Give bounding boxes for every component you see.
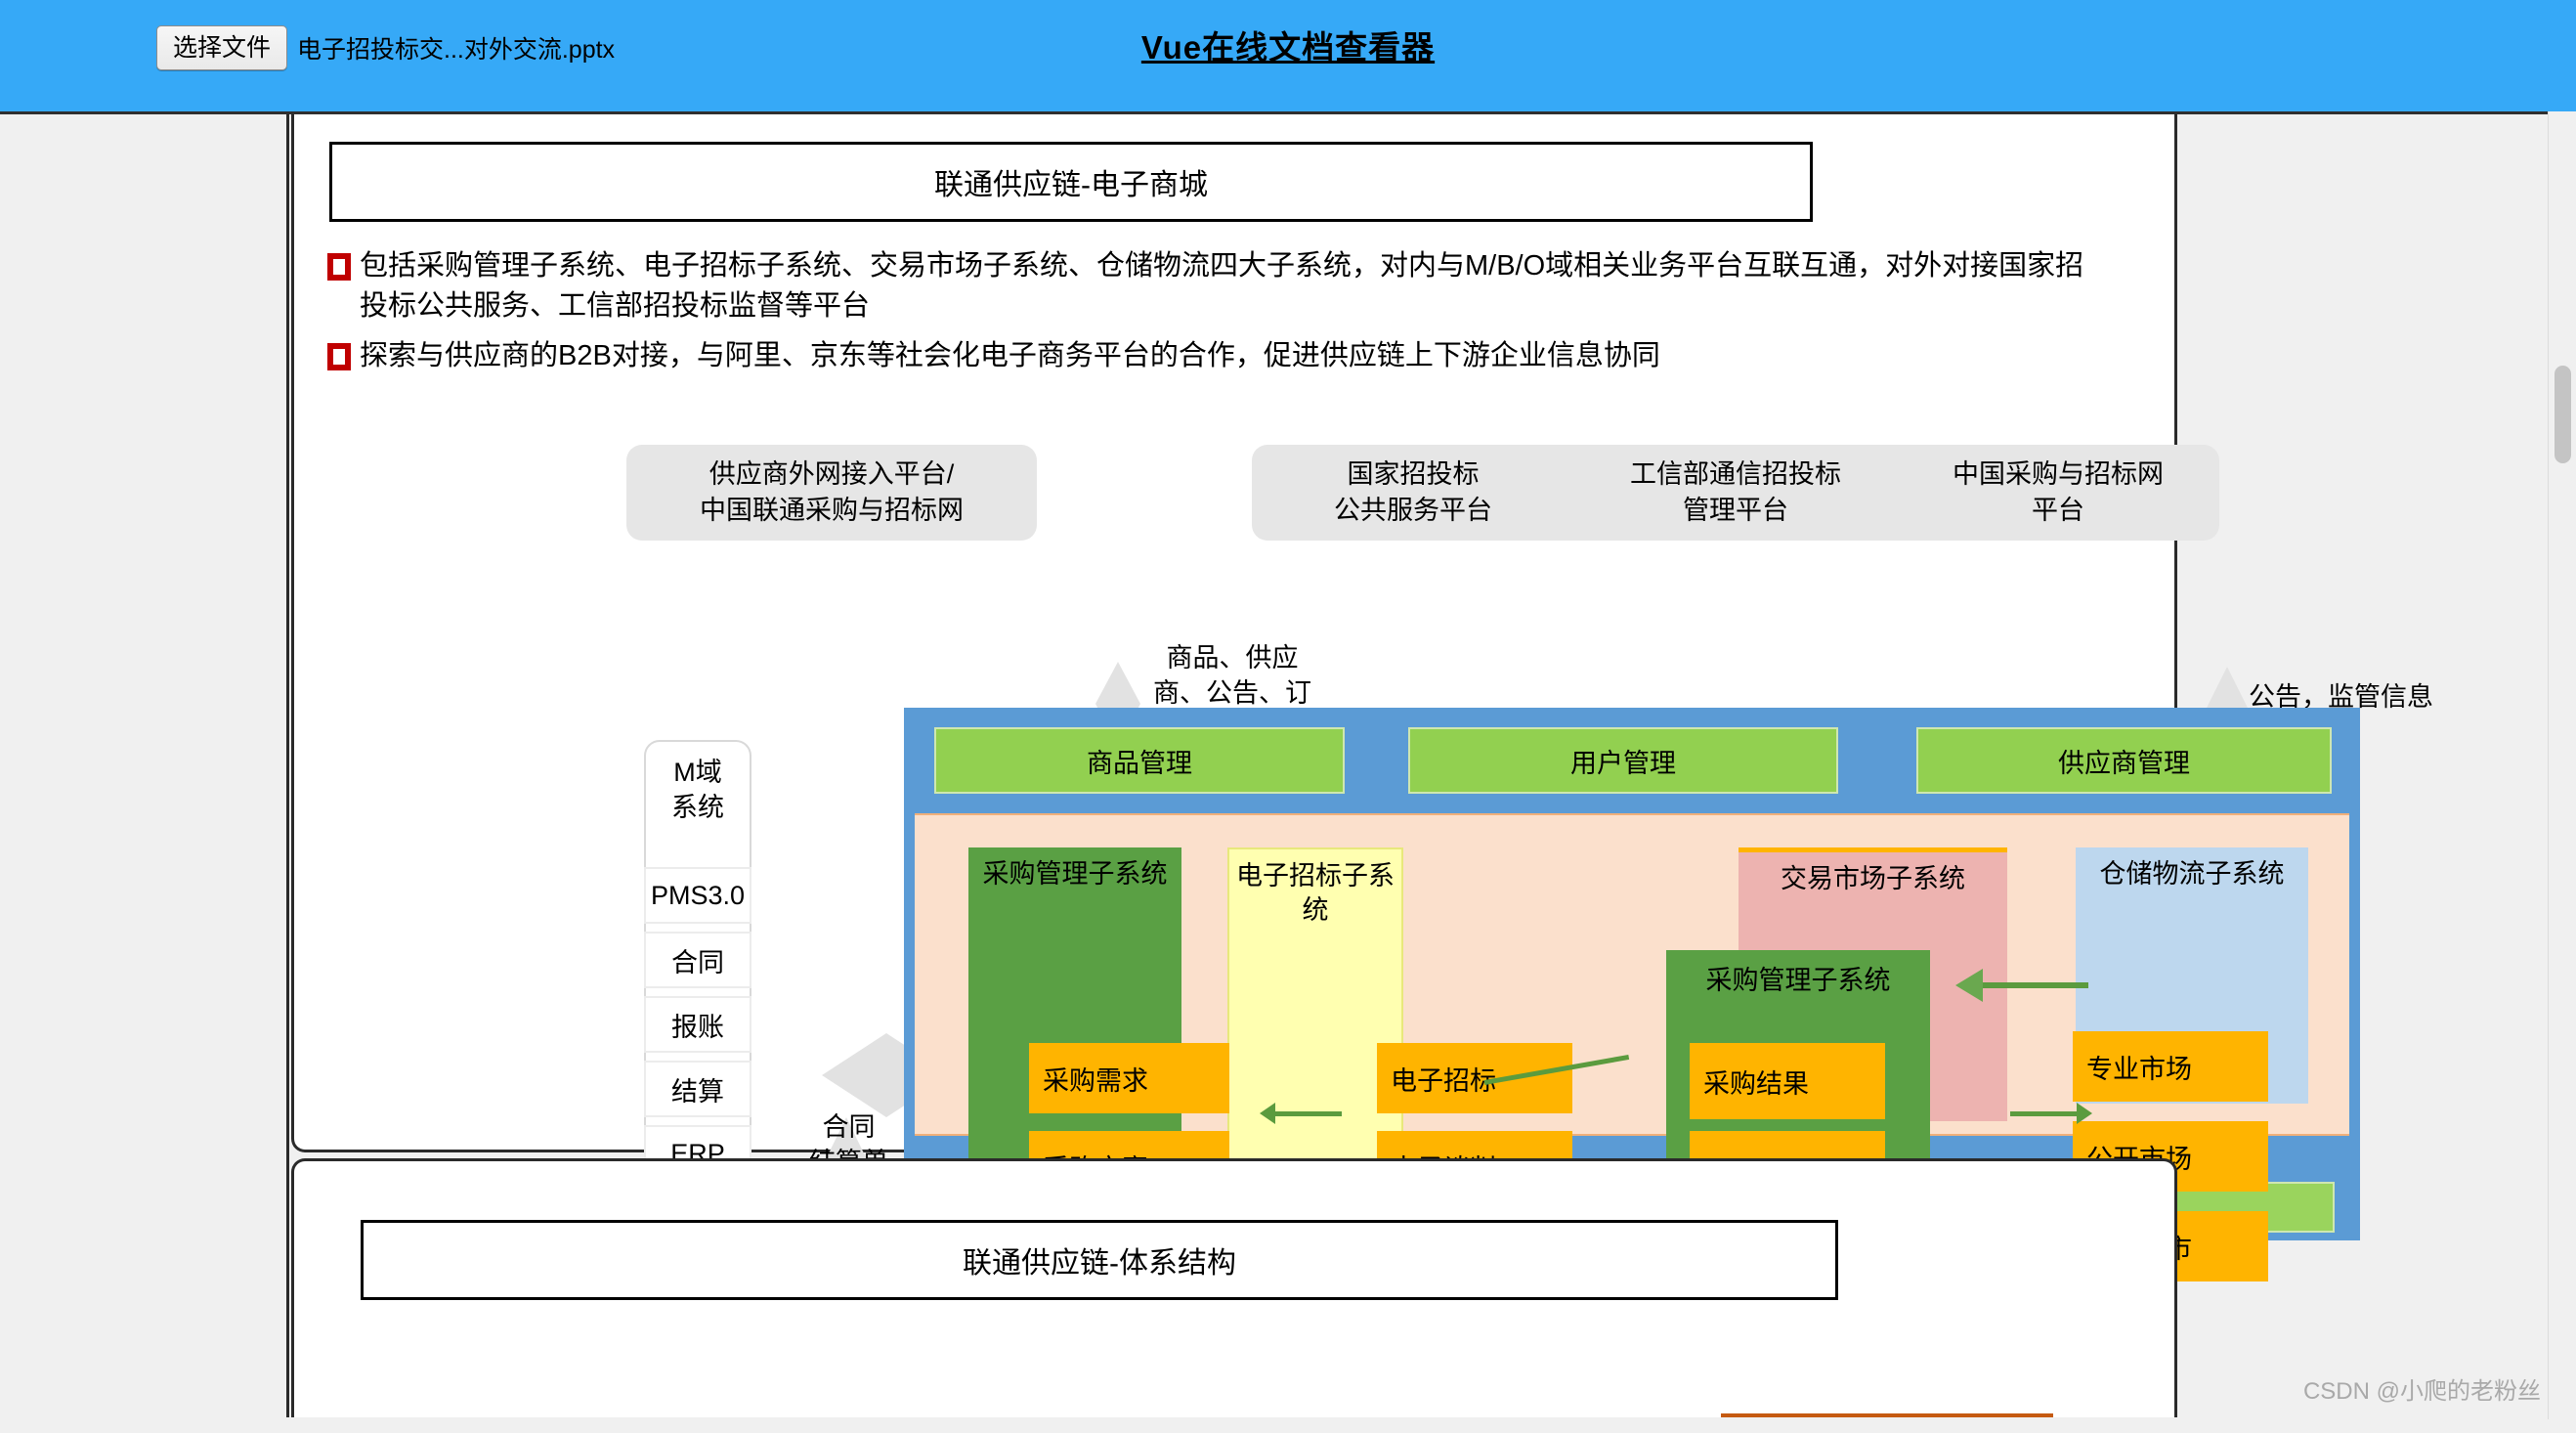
viewer-page: 选择文件 电子招投标交...对外交流.pptx Vue在线文档查看器 联通供应链… [0, 0, 2576, 1433]
supply-chain-diagram: 供应商外网接入平台/ 中国联通采购与招标网 国家招投标 公共服务平台 工信部通信… [294, 114, 2180, 1152]
center-block-title: 采购管理子系统 [1666, 964, 1930, 998]
slide2-title-box: 联通供应链-体系结构 [361, 1220, 1838, 1300]
external-platform-national-bidding: 国家招投标 公共服务平台 [1252, 445, 1574, 541]
document-viewport[interactable]: 联通供应链-电子商城 包括采购管理子系统、电子招标子系统、交易市场子系统、仓储物… [0, 111, 2576, 1433]
slide-page-2: 联通供应链-体系结构 电子商城产品 工信部监督平台 [291, 1158, 2177, 1433]
m-domain-item-pms: PMS3.0 [644, 867, 751, 924]
subsystem-e-bidding: 电子招标子系统 [1227, 847, 1403, 1180]
tag-professional-market: 专业市场 [2073, 1031, 2268, 1102]
app-header: 选择文件 电子招投标交...对外交流.pptx Vue在线文档查看器 [0, 0, 2576, 111]
horizontal-scrollbar[interactable] [0, 1417, 2576, 1433]
page-title: Vue在线文档查看器 [0, 22, 2576, 68]
vertical-scrollbar[interactable] [2548, 111, 2576, 1419]
module-bar-supplier: 供应商管理 [1916, 727, 2332, 794]
arrow-warehouse-shaft [1981, 982, 2088, 988]
tag-e-bidding: 电子招标 [1377, 1043, 1572, 1113]
external-platform-group: 国家招投标 公共服务平台 工信部通信招投标 管理平台 中国采购与招标网 平台 [1252, 445, 2219, 541]
vertical-scrollbar-thumb[interactable] [2555, 366, 2571, 463]
subsystem-label: 交易市场子系统 [1739, 862, 2007, 896]
m-domain-item-reimburse: 报账 [644, 996, 751, 1053]
arrow-warehouse-head-icon [1955, 969, 1983, 1002]
arrow-left-shaft [1271, 1111, 1342, 1116]
subsystem-label: 电子招标子系统 [1229, 859, 1401, 928]
flow-label-goods-supplier: 商品、供应 商、公告、订 [1130, 640, 1335, 712]
external-platform-miit: 工信部通信招投标 管理平台 [1574, 445, 1897, 541]
external-platform-china-bidding: 中国采购与招标网 平台 [1897, 445, 2219, 541]
tag-procurement-result: 采购结果 [1690, 1043, 1885, 1119]
external-platform-supplier-portal: 供应商外网接入平台/ 中国联通采购与招标网 [626, 445, 1037, 541]
tag-procurement-demand: 采购需求 [1029, 1043, 1229, 1113]
module-bar-user: 用户管理 [1408, 727, 1838, 794]
subsystem-label: 仓储物流子系统 [2076, 857, 2308, 891]
viewer-left-gutter [8, 114, 289, 1433]
subsystem-procurement: 采购管理子系统 [968, 847, 1181, 1180]
subsystem-label: 采购管理子系统 [968, 857, 1181, 891]
slide-page-1: 联通供应链-电子商城 包括采购管理子系统、电子招标子系统、交易市场子系统、仓储物… [291, 114, 2177, 1152]
m-domain-item-settlement: 结算 [644, 1061, 751, 1117]
m-domain-title: M域 系统 [644, 755, 751, 826]
module-bar-goods: 商品管理 [934, 727, 1345, 794]
watermark: CSDN @小爬的老粉丝 [2303, 1371, 2541, 1406]
slide2-title: 联通供应链-体系结构 [963, 1238, 1236, 1281]
m-domain-item-contract: 合同 [644, 932, 751, 988]
arrow-right-shaft [2010, 1111, 2079, 1116]
arrow-right-head-icon [2077, 1103, 2092, 1124]
arrow-left-head-icon [1260, 1103, 1275, 1124]
